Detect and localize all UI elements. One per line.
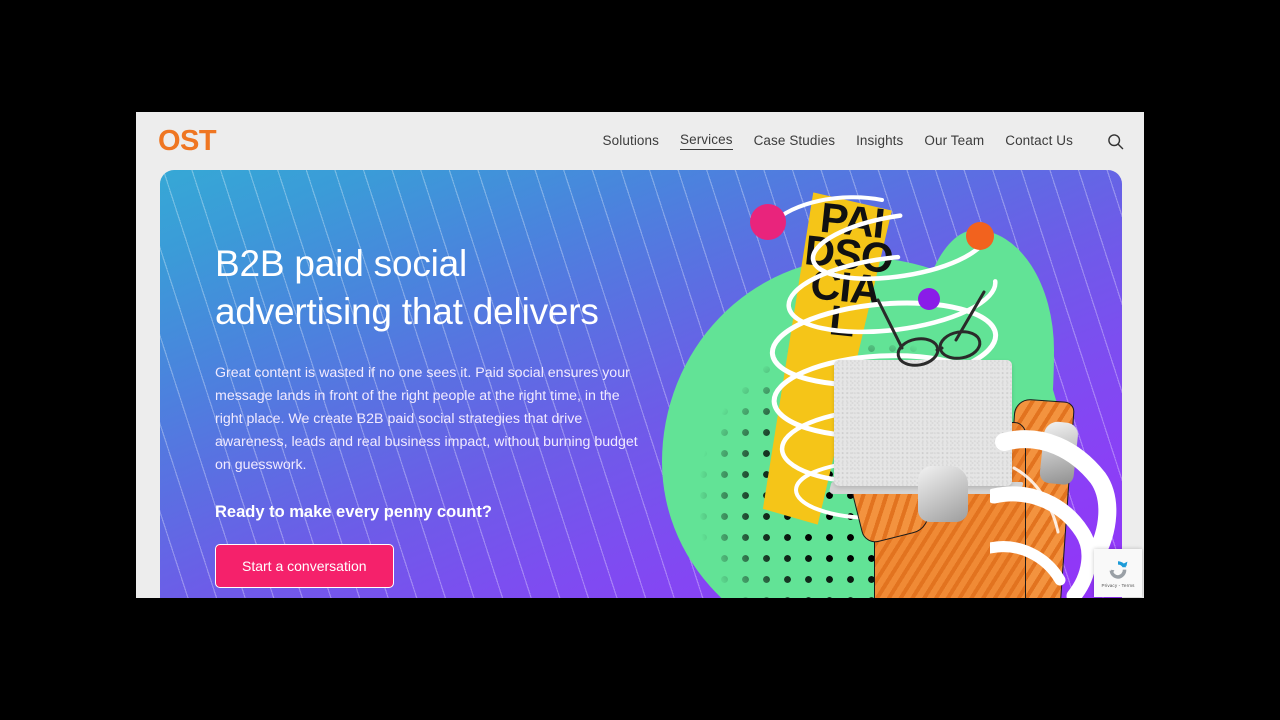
orange-circle-accent (966, 222, 994, 250)
hero-banner: PAIDSOCIAL (160, 170, 1122, 598)
hero-copy-block: B2B paid social advertising that deliver… (215, 240, 655, 588)
figure-hand-holding-laptop (918, 466, 968, 522)
hero-title-line-2: advertising that delivers (215, 291, 599, 332)
ost-logo[interactable]: OST (158, 127, 216, 156)
hero-title-line-1: B2B paid social (215, 243, 467, 284)
person-with-laptop-illustration (812, 360, 1102, 598)
web-page: OST Solutions Services Case Studies Insi… (136, 112, 1144, 598)
nav-item-case-studies[interactable]: Case Studies (754, 133, 836, 150)
hero-subheading: Ready to make every penny count? (215, 503, 655, 522)
recaptcha-badge[interactable]: Privacy - Terms (1094, 549, 1142, 597)
start-a-conversation-button[interactable]: Start a conversation (215, 544, 394, 588)
nav-item-insights[interactable]: Insights (856, 133, 903, 150)
nav-item-our-team[interactable]: Our Team (924, 133, 984, 150)
recaptcha-privacy-terms-label[interactable]: Privacy - Terms (1101, 583, 1134, 588)
figure-hand-holding-glasses (1039, 420, 1079, 485)
main-navigation: Solutions Services Case Studies Insights… (603, 132, 1124, 150)
nav-item-contact-us[interactable]: Contact Us (1005, 133, 1073, 150)
search-icon[interactable] (1106, 132, 1124, 150)
nav-item-services[interactable]: Services (680, 132, 733, 150)
page-title: B2B paid social advertising that deliver… (215, 240, 655, 336)
nav-item-solutions[interactable]: Solutions (603, 133, 659, 150)
site-header: OST Solutions Services Case Studies Insi… (136, 112, 1144, 170)
eyeglasses-icon (872, 288, 992, 378)
laptop-screen (834, 360, 1012, 486)
screenshot-viewport: OST Solutions Services Case Studies Insi… (0, 0, 1280, 720)
pink-circle-accent (750, 204, 786, 240)
hero-description: Great content is wasted if no one sees i… (215, 362, 640, 477)
hero-artwork: PAIDSOCIAL (622, 170, 1122, 598)
recaptcha-icon (1106, 558, 1130, 582)
